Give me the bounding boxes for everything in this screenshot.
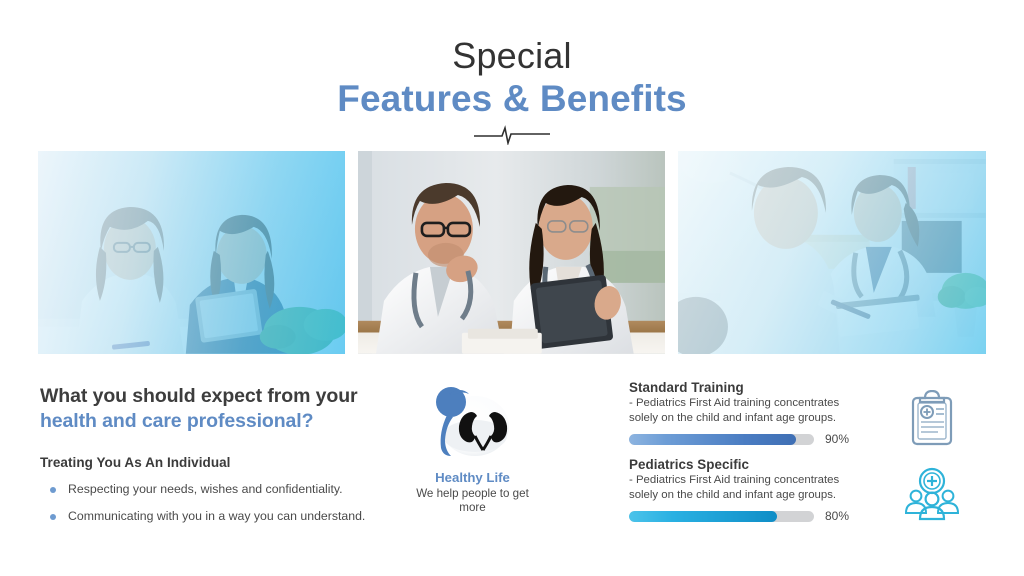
expectations-bullet-list: Respecting your needs, wishes and confid… bbox=[40, 482, 410, 525]
healthy-life-column: Healthy Life We help people to get more bbox=[410, 374, 535, 515]
bullet-dot-icon bbox=[50, 487, 56, 493]
progress-block-pediatrics-specific: Pediatrics Specific - Pediatrics First A… bbox=[629, 457, 989, 534]
photo-two-doctors-tablet bbox=[358, 151, 666, 354]
progress-row: 90% bbox=[629, 432, 859, 446]
page-title-primary: Special bbox=[0, 36, 1024, 76]
progress-percent-label: 80% bbox=[825, 509, 849, 523]
photo-consultation-desk bbox=[678, 151, 986, 354]
progress-percent-label: 90% bbox=[825, 432, 849, 446]
slide-header: Special Features & Benefits bbox=[0, 36, 1024, 150]
training-progress-column: Standard Training - Pediatrics First Aid… bbox=[629, 380, 989, 534]
ecg-heartbeat-line-icon bbox=[472, 123, 552, 145]
expectations-headline-line1: What you should expect from your bbox=[40, 384, 410, 409]
list-item-label: Respecting your needs, wishes and confid… bbox=[68, 482, 343, 496]
expectations-subheading: Treating You As An Individual bbox=[40, 455, 410, 470]
patient-group-medical-icon bbox=[904, 467, 960, 525]
list-item-label: Communicating with you in a way you can … bbox=[68, 509, 365, 523]
expectations-headline-line2: health and care professional? bbox=[40, 409, 410, 434]
page-title-secondary: Features & Benefits bbox=[0, 78, 1024, 121]
progress-track[interactable] bbox=[629, 434, 814, 445]
progress-block-standard-training: Standard Training - Pediatrics First Aid… bbox=[629, 380, 989, 457]
photo-1-cyan-tint-overlay bbox=[38, 151, 345, 354]
healthy-life-title: Healthy Life bbox=[410, 470, 535, 485]
photo-2-artwork bbox=[358, 151, 666, 354]
photo-3-cyan-tint-overlay bbox=[678, 151, 986, 354]
photo-strip bbox=[38, 151, 986, 354]
kidney-organ-icon bbox=[425, 374, 521, 466]
photo-doctor-and-patient-tablet bbox=[38, 151, 345, 354]
list-item: Respecting your needs, wishes and confid… bbox=[40, 482, 410, 498]
progress-description: - Pediatrics First Aid training concentr… bbox=[629, 473, 861, 503]
healthy-life-subtitle: We help people to get more bbox=[410, 487, 535, 515]
expectations-column: What you should expect from your health … bbox=[40, 384, 410, 536]
progress-row: 80% bbox=[629, 509, 859, 523]
bottom-content: What you should expect from your health … bbox=[0, 372, 1024, 552]
progress-fill bbox=[629, 434, 796, 445]
bullet-dot-icon bbox=[50, 514, 56, 520]
slide-canvas: Special Features & Benefits bbox=[0, 0, 1024, 576]
list-item: Communicating with you in a way you can … bbox=[40, 509, 410, 525]
medical-clipboard-icon bbox=[904, 390, 960, 448]
progress-track[interactable] bbox=[629, 511, 814, 522]
progress-fill bbox=[629, 511, 777, 522]
progress-description: - Pediatrics First Aid training concentr… bbox=[629, 396, 861, 426]
